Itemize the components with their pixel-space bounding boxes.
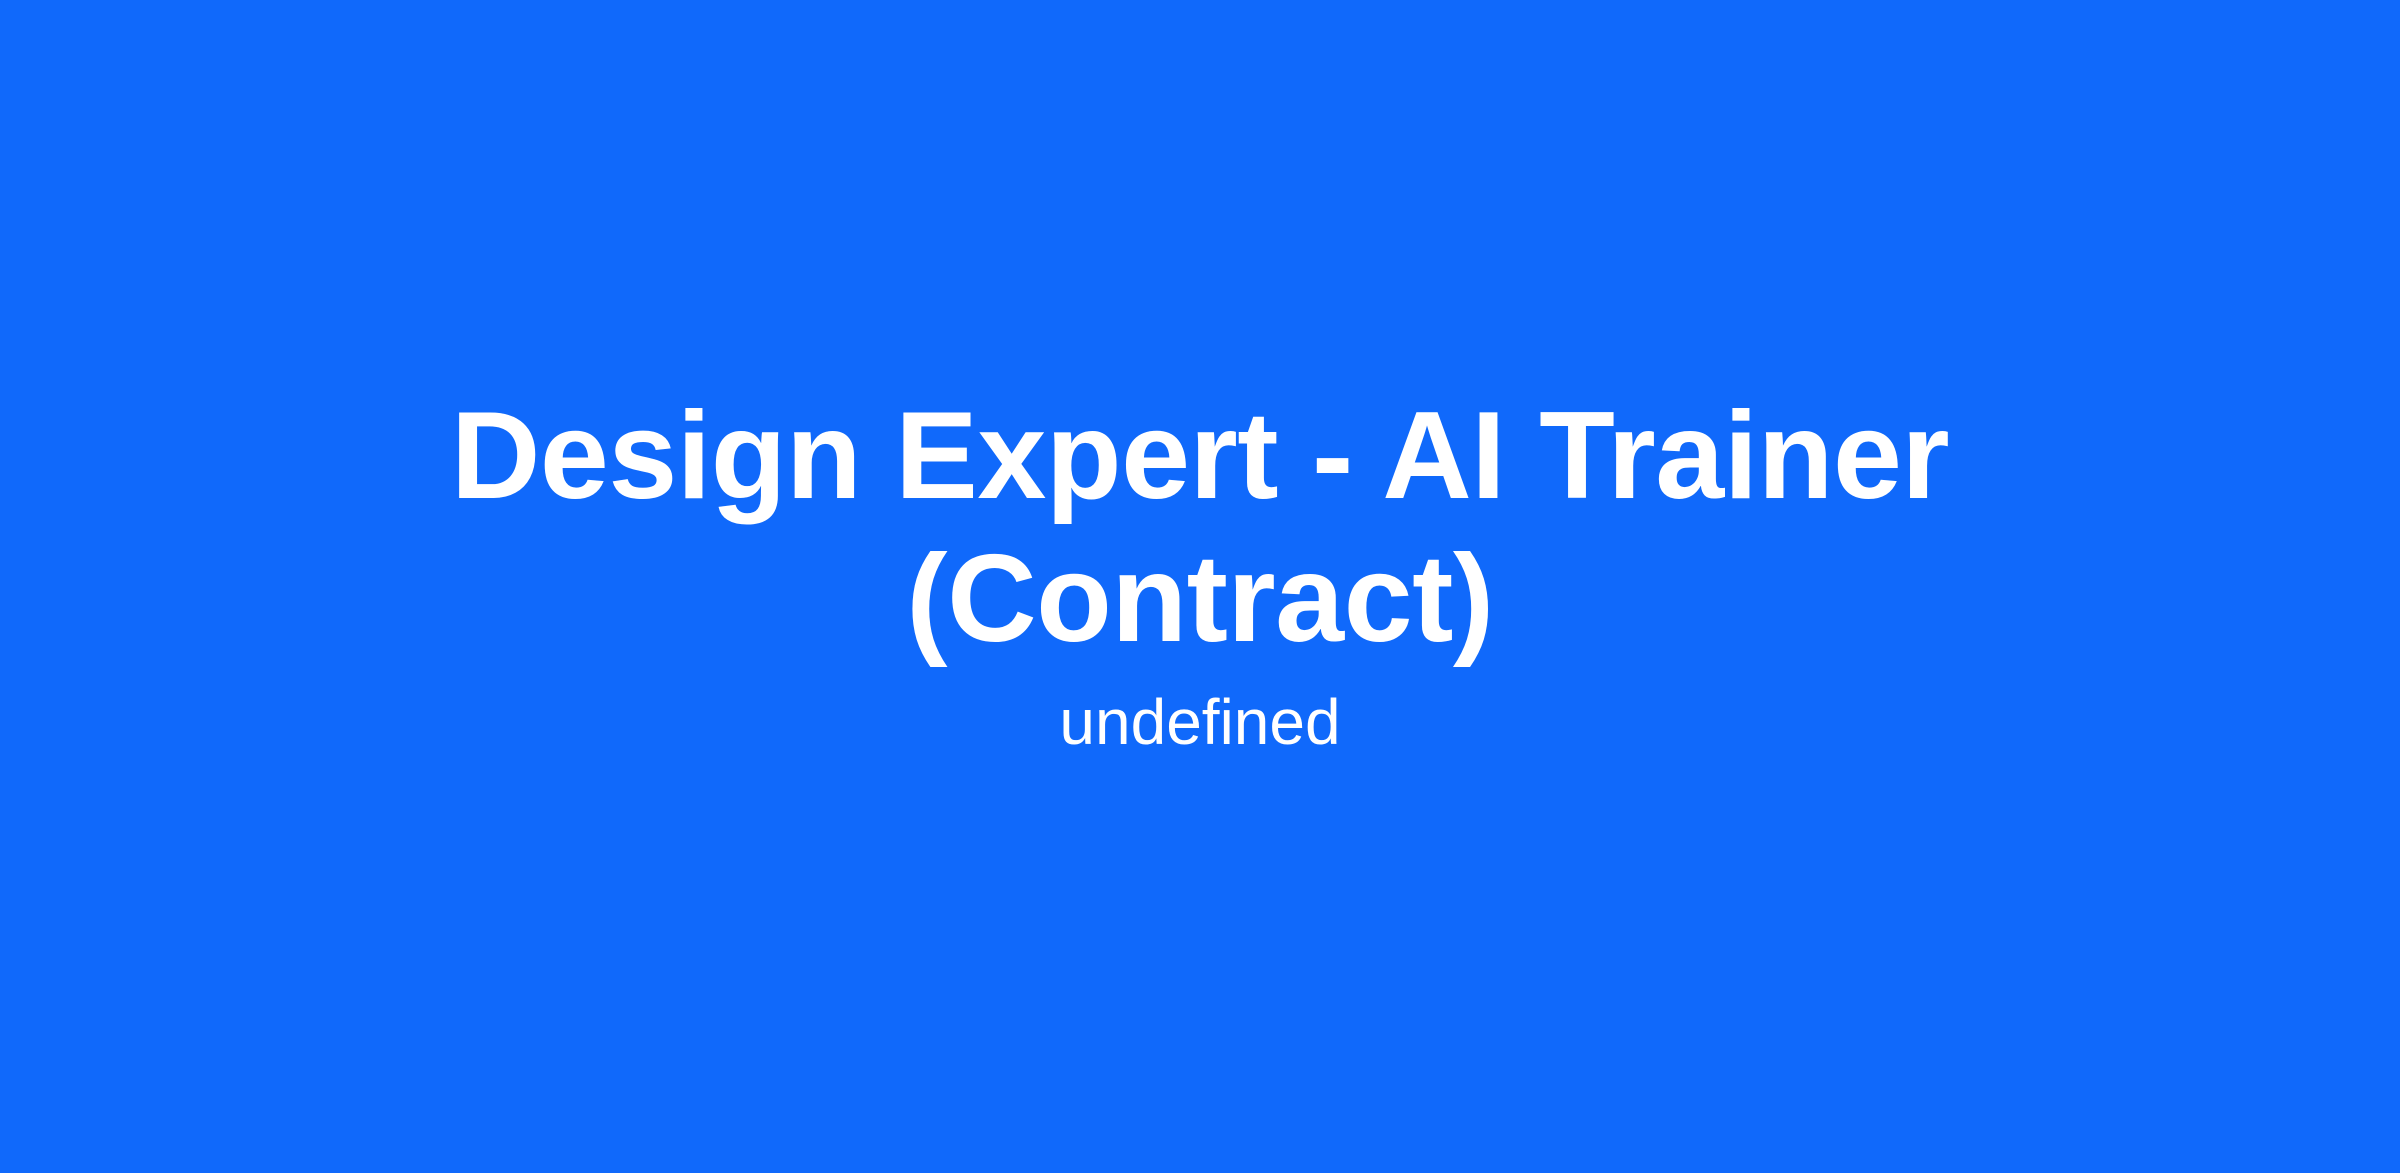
- hero-content: Design Expert - AI Trainer (Contract) un…: [420, 385, 1980, 763]
- job-title: Design Expert - AI Trainer (Contract): [450, 385, 1950, 671]
- job-subtitle: undefined: [1059, 681, 1340, 763]
- hero-banner: Design Expert - AI Trainer (Contract) un…: [0, 0, 2400, 1173]
